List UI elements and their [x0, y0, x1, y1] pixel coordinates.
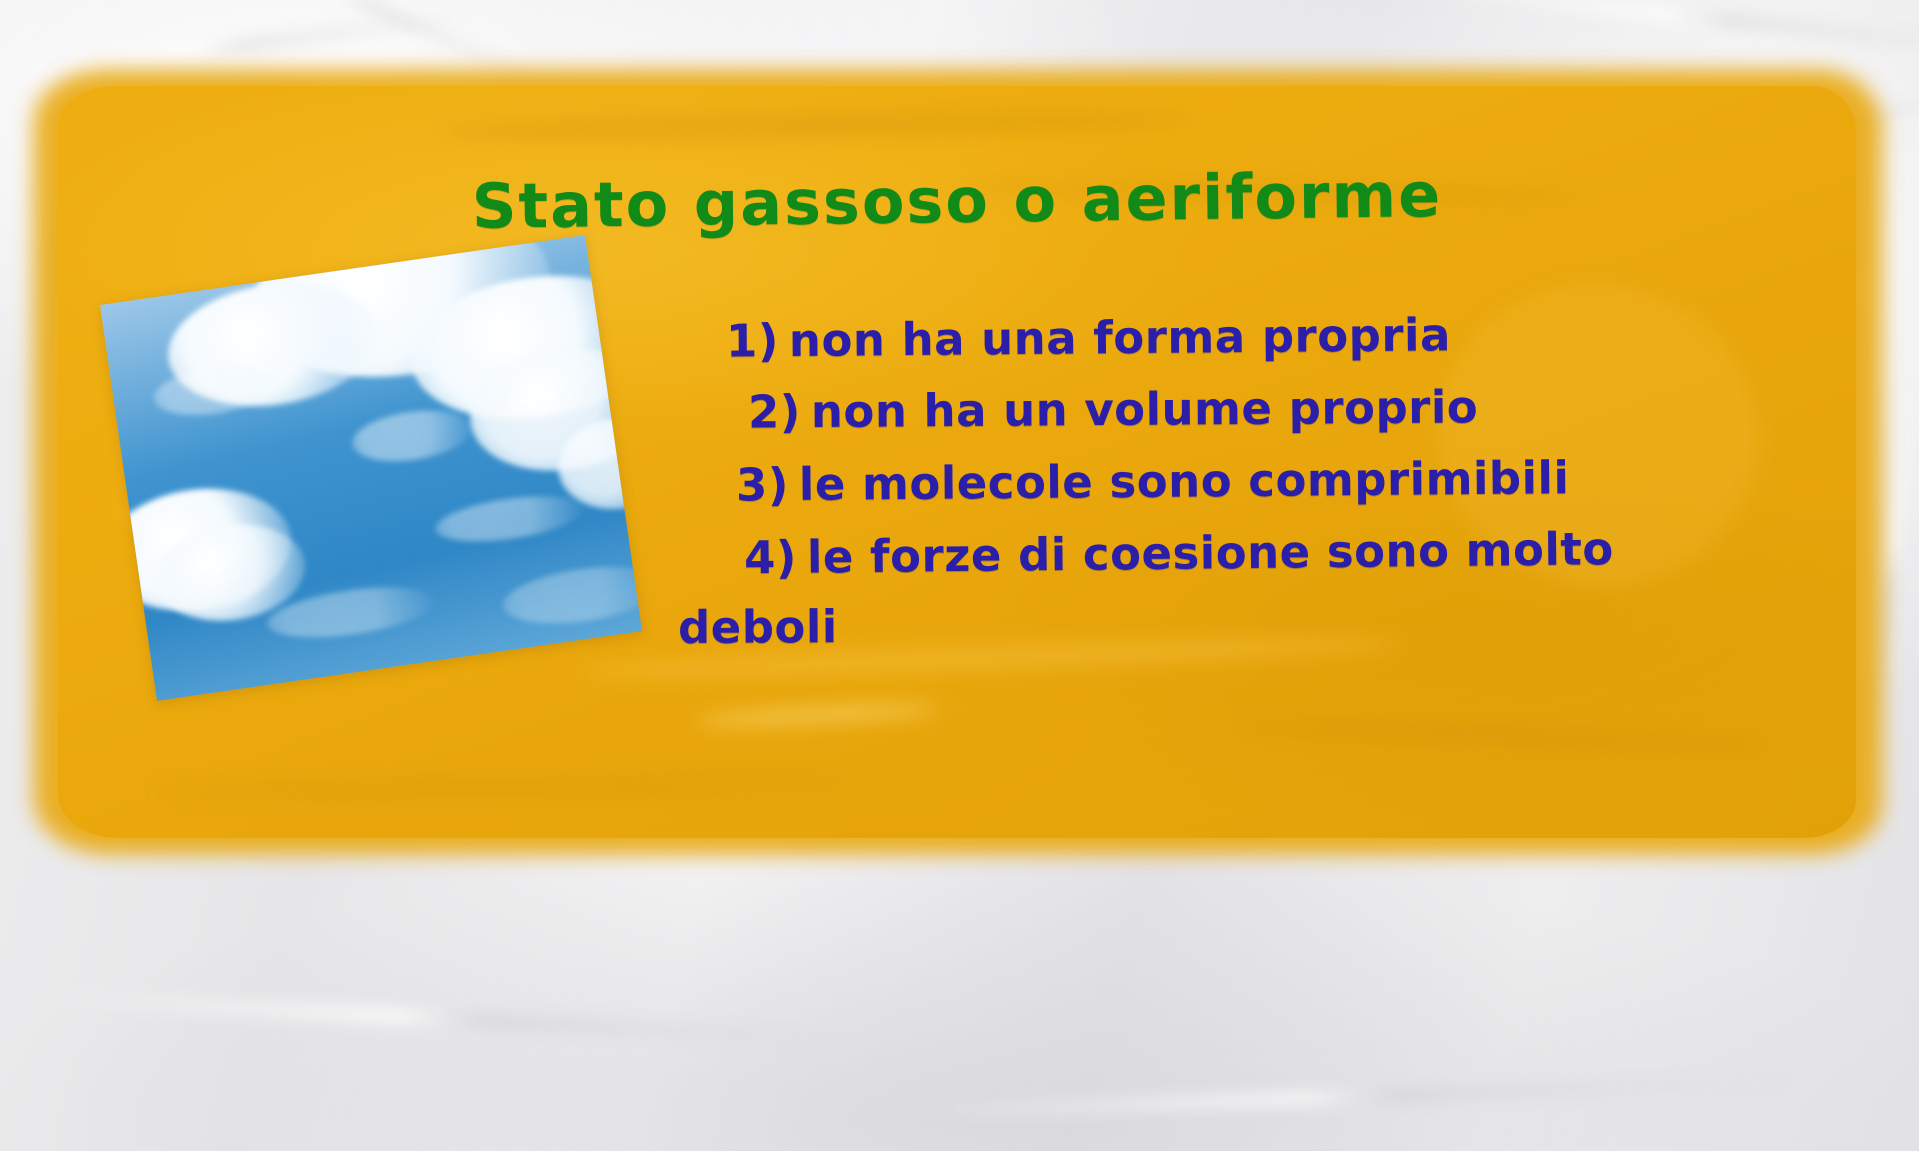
brush-streak	[1238, 717, 1778, 756]
brush-streak	[438, 105, 1198, 144]
painted-board: Stato gassoso o aeriforme 1)non ha una f…	[28, 62, 1888, 862]
cloud-shape	[151, 359, 276, 422]
slide-title: Stato gassoso o aeriforme	[58, 153, 1857, 248]
list-item: 4)le forze di coesione sono molto	[678, 524, 1818, 581]
board-surface: Stato gassoso o aeriforme 1)non ha una f…	[58, 86, 1856, 838]
sky-photo	[100, 235, 642, 701]
cloud-shape	[349, 404, 475, 469]
list-item-number: 3)	[736, 458, 789, 511]
list-item-number: 1)	[726, 314, 779, 367]
slide-stage: Stato gassoso o aeriforme 1)non ha una f…	[0, 0, 1919, 1151]
list-item-number: 2)	[748, 385, 801, 438]
list-item: 2)non ha un volume proprio	[678, 382, 1818, 435]
brush-streak	[698, 700, 939, 731]
list-item: 3)le molecole sono comprimibili	[678, 453, 1818, 508]
list-item-text: non ha una forma propria	[789, 308, 1451, 367]
cloth-crease	[40, 989, 840, 1048]
cloth-crease	[900, 1074, 1800, 1119]
cloud-shape	[433, 488, 587, 549]
cloud-shape	[499, 558, 642, 632]
list-item-number: 4)	[744, 531, 797, 585]
list-item-continuation: deboli	[678, 599, 1818, 650]
list-item: 1)non ha una forma propria	[678, 309, 1818, 364]
list-item-text: non ha un volume proprio	[811, 380, 1479, 438]
brush-streak	[158, 770, 858, 804]
list-item-text: le forze di coesione sono molto	[807, 522, 1614, 583]
properties-list: 1)non ha una forma propria 2)non ha un v…	[678, 314, 1818, 674]
list-item-text: le molecole sono comprimibili	[799, 451, 1570, 511]
cloth-crease	[1381, 0, 1919, 58]
